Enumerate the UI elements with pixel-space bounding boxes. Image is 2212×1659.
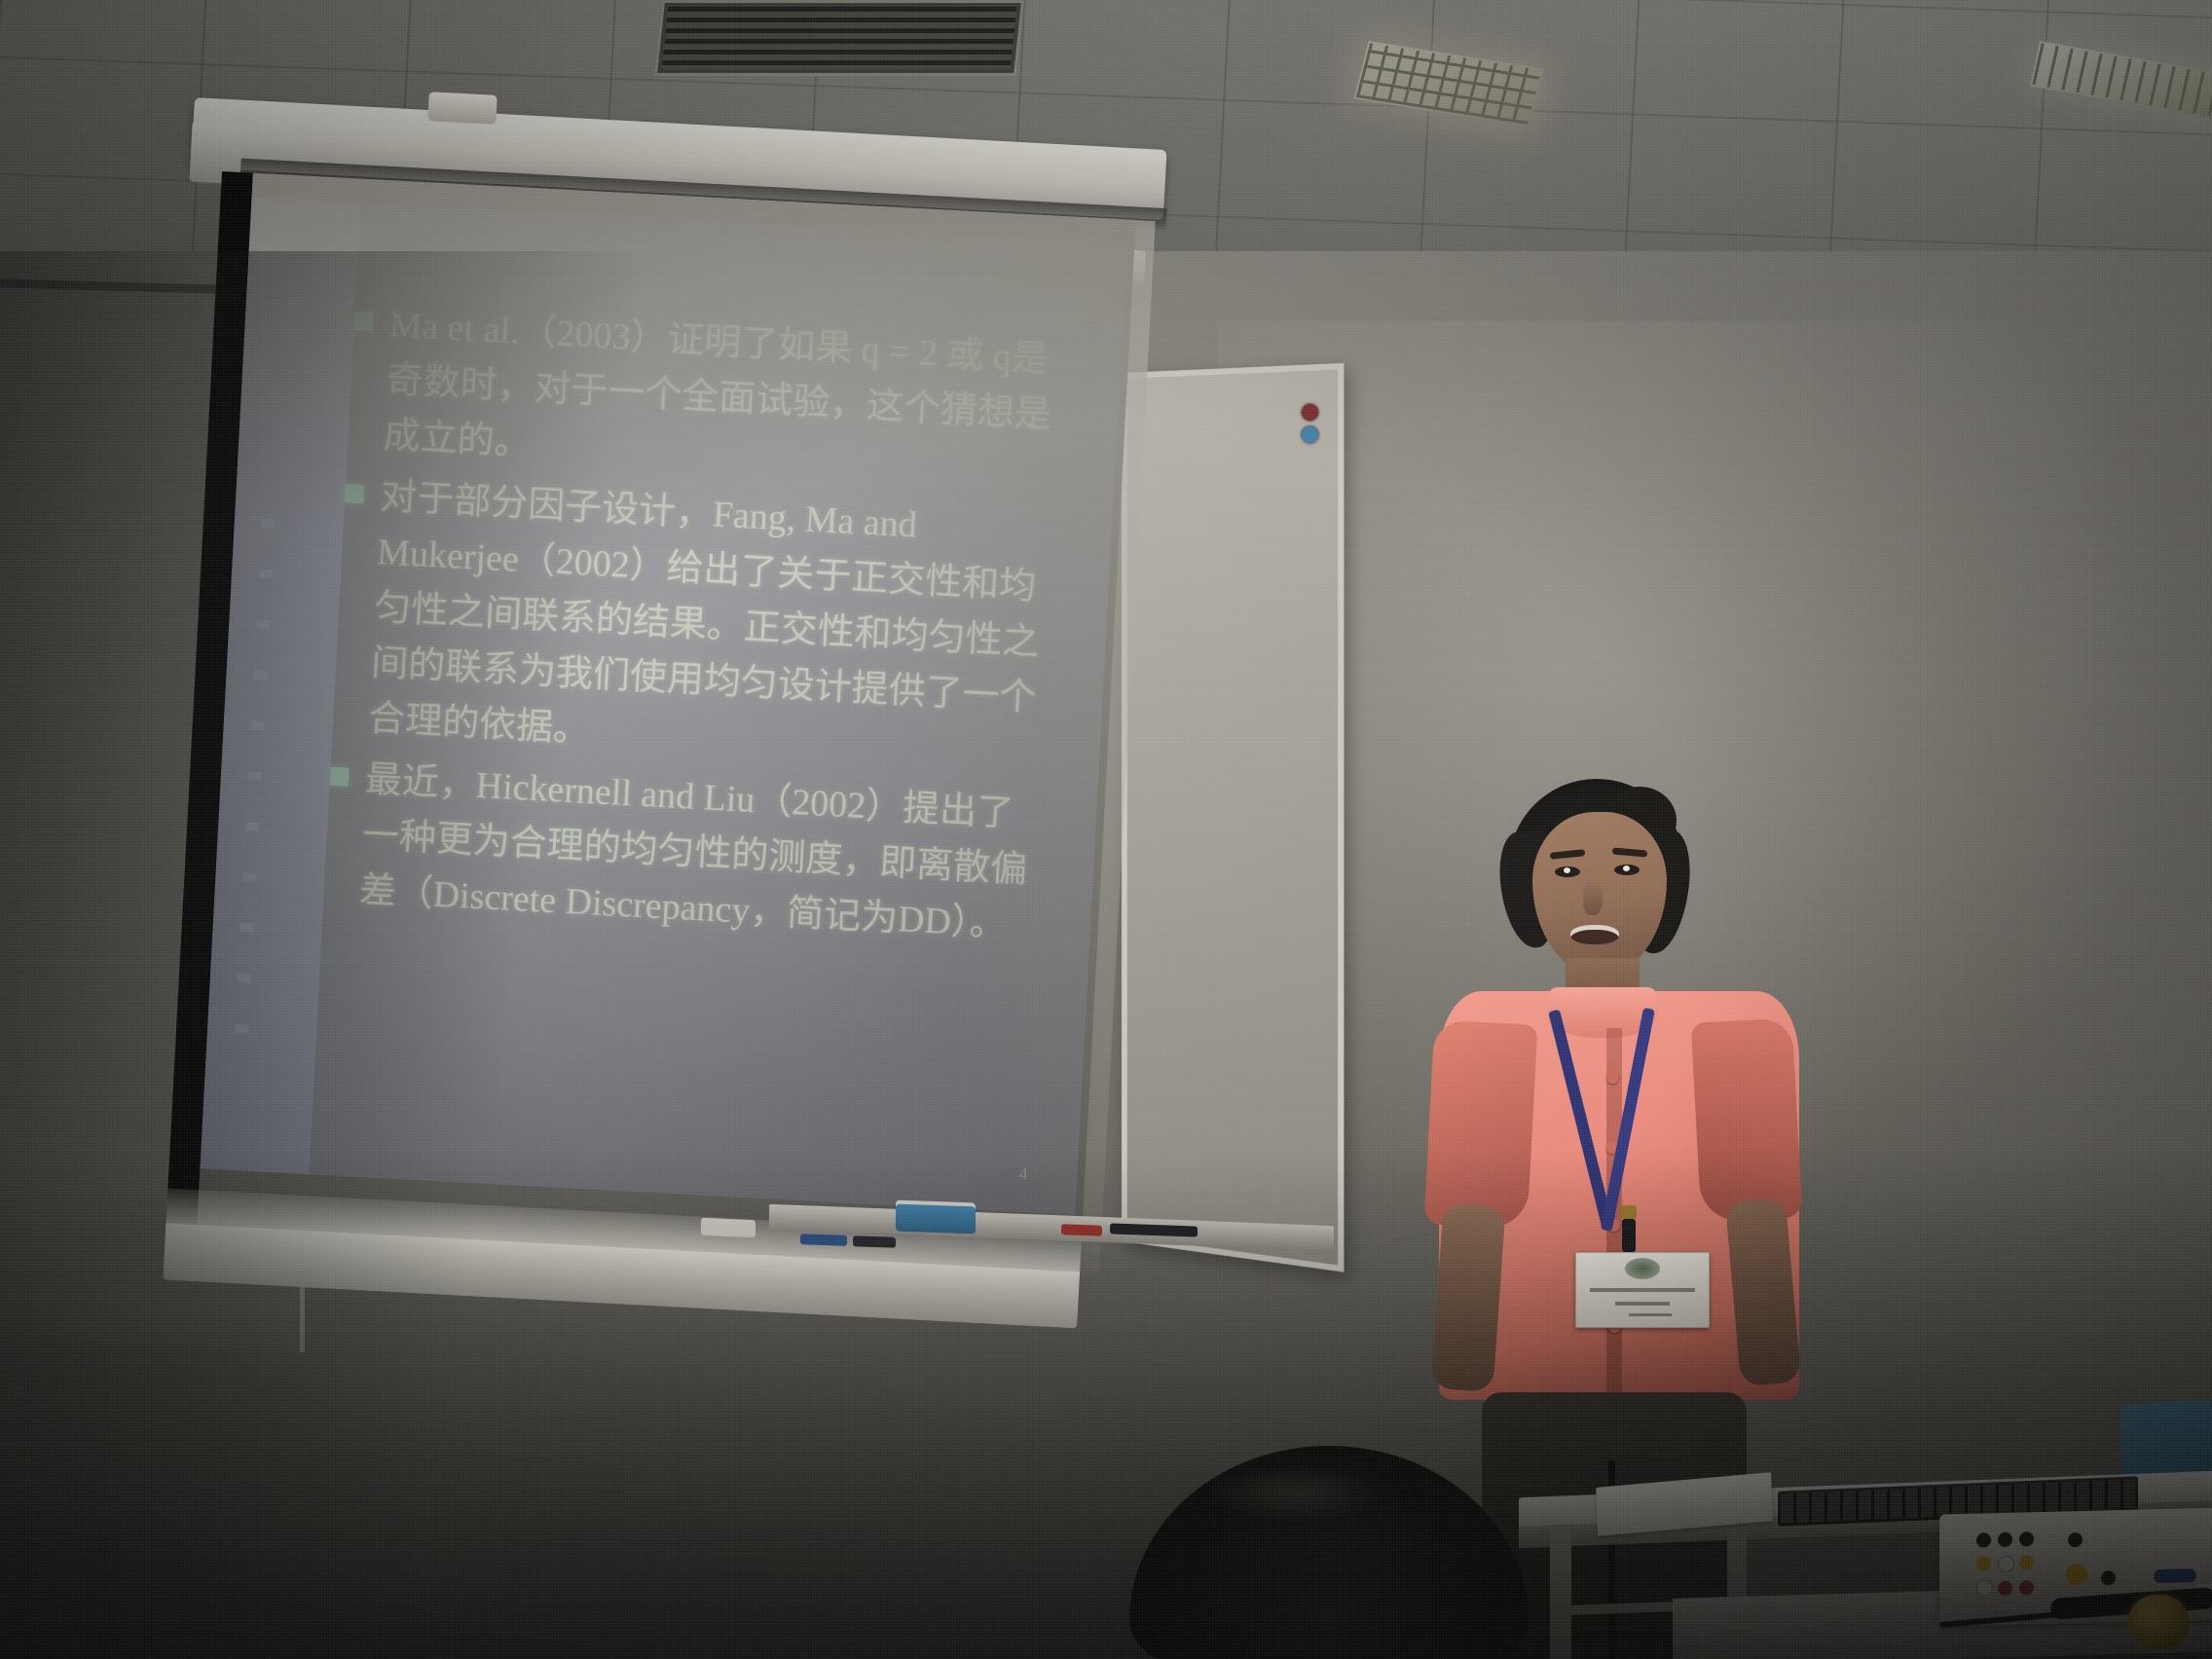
room-bottom-shadow [0,1149,2212,1659]
whiteboard-magnet-blue[interactable] [1302,426,1318,443]
presenter-nose [1583,880,1603,915]
whiteboard-magnet-red[interactable] [1302,404,1318,421]
lecture-room-scene: Ma et al.（2003）证明了如果 q = 2 或 q是 奇数时，对于一个… [0,0,2212,1659]
wall-whiteboard[interactable] [1122,363,1344,1272]
presenter-eye-highlight-left [1564,867,1570,873]
presenter-eye-highlight-right [1623,866,1630,871]
presenter-mouth [1570,925,1619,944]
shirt-button-1 [1606,1071,1619,1084]
screen-case-knob [427,92,497,125]
